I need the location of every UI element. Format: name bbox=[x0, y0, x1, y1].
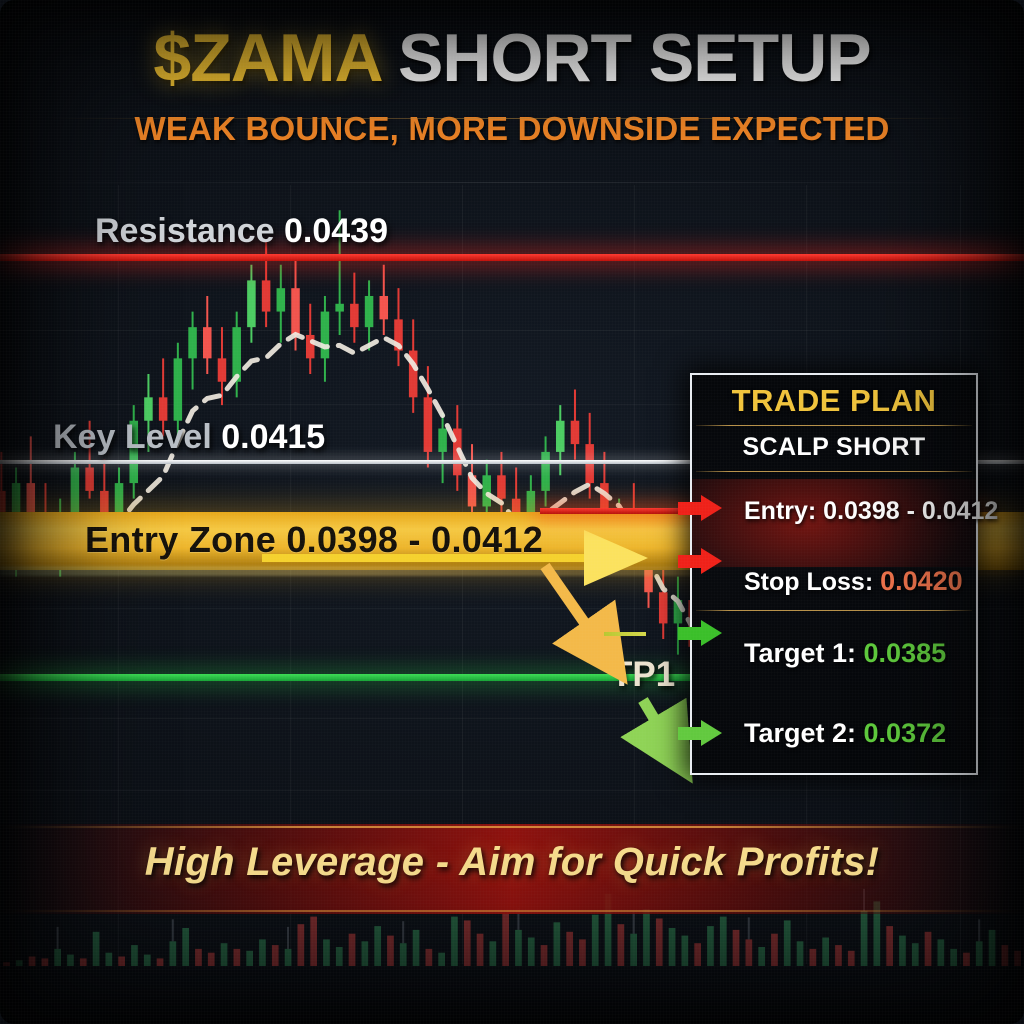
title-rest bbox=[380, 20, 398, 96]
target1-value: 0.0385 bbox=[864, 638, 947, 668]
trade-plan-row-target2: Target 2: 0.0372 bbox=[692, 705, 976, 761]
target2-value: 0.0372 bbox=[864, 718, 947, 748]
panel-divider bbox=[696, 471, 972, 472]
tp1-label: TP1 bbox=[611, 655, 675, 695]
trade-plan-row-stop-loss: Stop Loss: 0.0420 bbox=[692, 553, 976, 609]
ticker-symbol: $ZAMA bbox=[153, 20, 380, 96]
footer-divider-top bbox=[0, 826, 1024, 828]
entry-zone-label: Entry Zone 0.0398 - 0.0412 bbox=[85, 519, 543, 561]
trade-plan-row-entry: Entry: 0.0398 - 0.0412 bbox=[692, 483, 976, 539]
footer-divider-bottom bbox=[0, 910, 1024, 912]
trade-plan-title: TRADE PLAN bbox=[692, 383, 976, 419]
key-level-label-text: Key Level bbox=[53, 418, 221, 456]
title-rest-text: SHORT SETUP bbox=[398, 20, 871, 96]
panel-divider bbox=[696, 610, 972, 611]
stop-loss-value: 0.0420 bbox=[880, 566, 963, 596]
trade-plan-panel: TRADE PLAN SCALP SHORT Entry: 0.0398 - 0… bbox=[690, 373, 978, 775]
stop-loss-label-text: Stop Loss: bbox=[744, 568, 880, 596]
target1-green-arrow-icon bbox=[678, 620, 722, 646]
target1-row-label: Target 1: 0.0385 bbox=[744, 638, 946, 669]
resistance-label: Resistance 0.0439 bbox=[95, 212, 388, 251]
stop-loss-red-arrow-icon bbox=[678, 548, 722, 574]
target2-green-arrow-icon bbox=[678, 720, 722, 746]
infographic-root: Entry Zone 0.0398 - 0.0412 Resistance 0.… bbox=[0, 0, 1024, 1024]
target2-label-text: Target 2: bbox=[744, 718, 864, 748]
trade-plan-subtitle: SCALP SHORT bbox=[692, 433, 976, 462]
resistance-label-text: Resistance bbox=[95, 212, 284, 250]
stop-loss-row-label: Stop Loss: 0.0420 bbox=[744, 566, 963, 597]
key-level-label-value: 0.0415 bbox=[221, 418, 325, 456]
entry-red-arrow-icon bbox=[678, 495, 722, 521]
tp1-level-line bbox=[0, 674, 690, 681]
entry-row-label: Entry: 0.0398 - 0.0412 bbox=[744, 497, 998, 526]
page-title: $ZAMA SHORT SETUP bbox=[0, 24, 1024, 92]
title-divider bbox=[46, 118, 978, 119]
resistance-label-value: 0.0439 bbox=[284, 212, 388, 250]
key-level-label: Key Level 0.0415 bbox=[53, 418, 325, 457]
target1-label-text: Target 1: bbox=[744, 638, 864, 668]
trade-plan-row-target1: Target 1: 0.0385 bbox=[692, 625, 976, 681]
page-subtitle: WEAK BOUNCE, MORE DOWNSIDE EXPECTED bbox=[0, 110, 1024, 148]
target2-row-label: Target 2: 0.0372 bbox=[744, 718, 946, 749]
panel-divider bbox=[696, 425, 972, 426]
header: $ZAMA SHORT SETUP WEAK BOUNCE, MORE DOWN… bbox=[0, 0, 1024, 185]
footer-text: High Leverage - Aim for Quick Profits! bbox=[0, 840, 1024, 885]
target1-connector-stub bbox=[604, 632, 646, 636]
resistance-level-line bbox=[0, 254, 1024, 261]
